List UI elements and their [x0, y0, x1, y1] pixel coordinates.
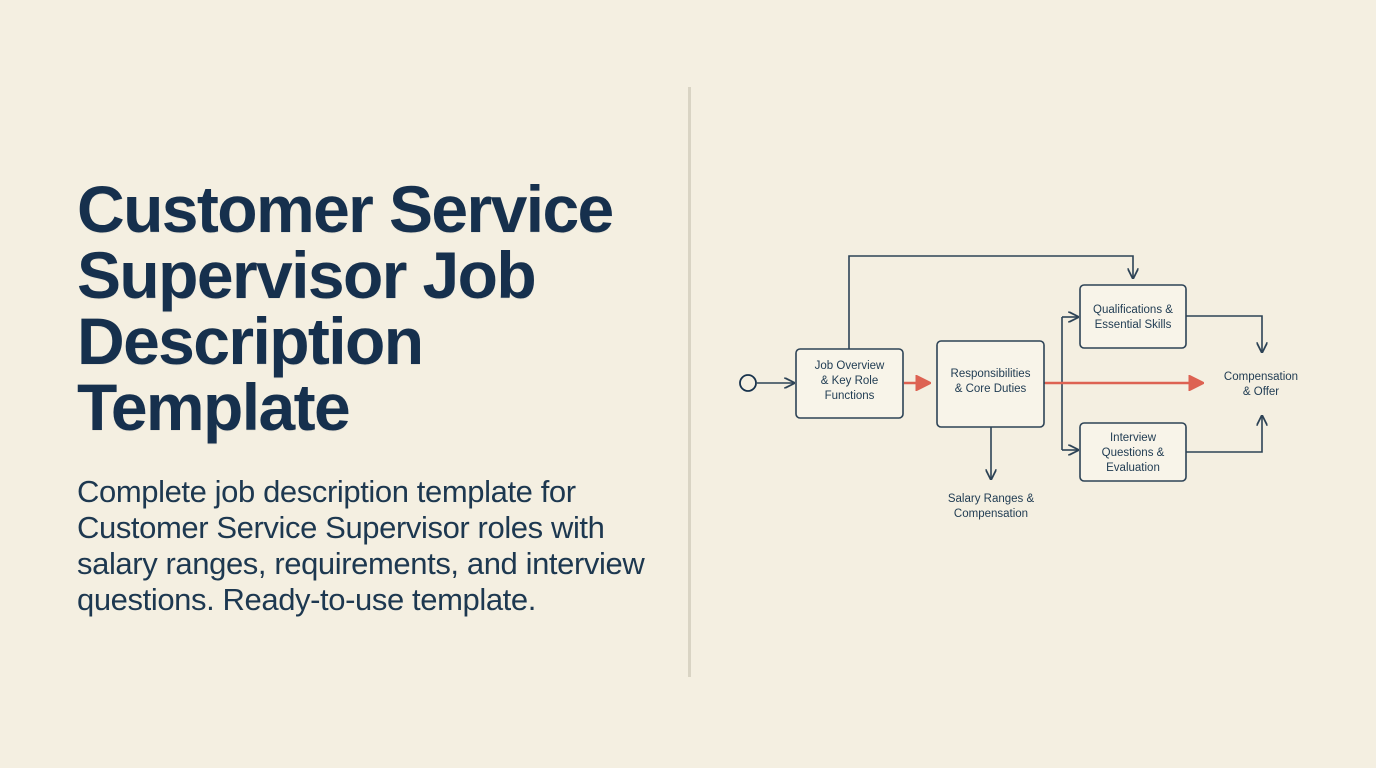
start-node-circle — [740, 375, 756, 391]
edge-interview-to-compensation — [1186, 416, 1262, 452]
node-label-responsibilities-line1: Responsibilities — [951, 368, 1031, 380]
node-label-qualifications-line2: Essential Skills — [1095, 319, 1172, 331]
node-label-job-overview-line3: Functions — [825, 390, 875, 402]
node-label-interview-line2: Questions & — [1102, 447, 1165, 459]
page-title: Customer Service Supervisor Job Descript… — [77, 176, 652, 440]
node-label-qualifications-line1: Qualifications & — [1093, 304, 1173, 316]
edge-qualifications-to-compensation — [1186, 316, 1262, 352]
node-label-compensation-line1: Compensation — [1224, 371, 1298, 383]
hero-text-column: Customer Service Supervisor Job Descript… — [77, 176, 652, 618]
node-label-interview-line1: Interview — [1110, 432, 1157, 444]
page-subtitle: Complete job description template for Cu… — [77, 474, 652, 618]
node-label-job-overview-line2: & Key Role — [821, 375, 879, 387]
node-label-job-overview-line1: Job Overview — [815, 360, 885, 372]
slide-canvas: Customer Service Supervisor Job Descript… — [0, 0, 1376, 768]
node-label-compensation-line2: & Offer — [1243, 386, 1279, 398]
node-label-interview-line3: Evaluation — [1106, 462, 1160, 474]
flowchart-svg: Job Overview & Key Role Functions Respon… — [720, 230, 1340, 540]
node-label-responsibilities-line2: & Core Duties — [955, 383, 1027, 395]
node-label-salary-ranges-line1: Salary Ranges & — [948, 493, 1035, 505]
node-box-qualifications[interactable] — [1080, 285, 1186, 348]
node-label-salary-ranges-line2: Compensation — [954, 508, 1028, 520]
vertical-divider — [688, 87, 691, 677]
flowchart-diagram: Job Overview & Key Role Functions Respon… — [720, 230, 1340, 540]
